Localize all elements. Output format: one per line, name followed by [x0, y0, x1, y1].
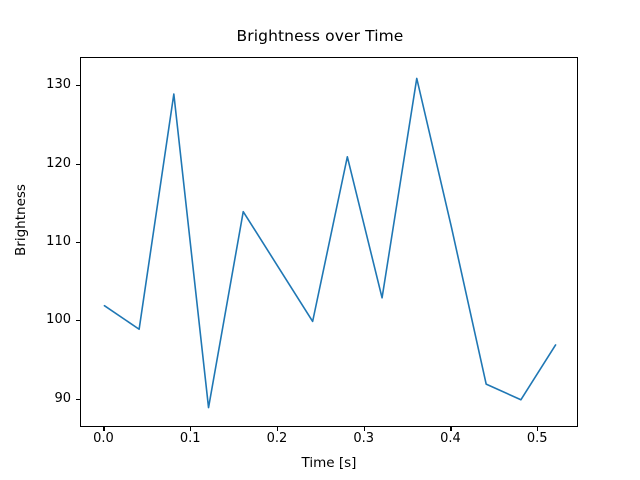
brightness-line: [104, 78, 555, 407]
x-axis-tick-label: 0.3: [353, 432, 374, 445]
x-axis-tick-mark: [450, 427, 451, 431]
x-axis-tick-label: 0.0: [93, 432, 114, 445]
y-axis-tick-label: 130: [46, 78, 71, 91]
x-axis-tick-mark: [190, 427, 191, 431]
x-axis-tick-mark: [364, 427, 365, 431]
x-axis-tick-label: 0.1: [180, 432, 201, 445]
chart-title: Brightness over Time: [0, 27, 640, 45]
chart-figure: Brightness over Time 90100110120130 Time…: [0, 0, 640, 480]
y-axis-tick-mark: [76, 164, 80, 165]
x-axis-tick-mark: [277, 427, 278, 431]
y-axis-tick-mark: [76, 242, 80, 243]
x-axis-tick-label: 0.4: [440, 432, 461, 445]
y-axis-tick-mark: [76, 85, 80, 86]
y-axis-tick-label: 110: [46, 235, 71, 248]
y-axis-tick-mark: [76, 399, 80, 400]
x-axis-tick-mark: [537, 427, 538, 431]
x-axis-label: Time [s]: [80, 455, 578, 471]
y-axis-label: Brightness: [13, 135, 29, 305]
x-axis-tick-label: 0.5: [527, 432, 548, 445]
x-axis-tick-label: 0.2: [267, 432, 288, 445]
y-axis-tick-labels: 90100110120130: [0, 0, 71, 480]
y-axis-tick-label: 90: [54, 392, 71, 405]
y-axis-tick-label: 120: [46, 157, 71, 170]
x-axis-tick-mark: [103, 427, 104, 431]
y-axis-tick-label: 100: [46, 313, 71, 326]
line-series-svg: [81, 58, 579, 428]
plot-area: [80, 57, 578, 427]
y-axis-tick-mark: [76, 320, 80, 321]
